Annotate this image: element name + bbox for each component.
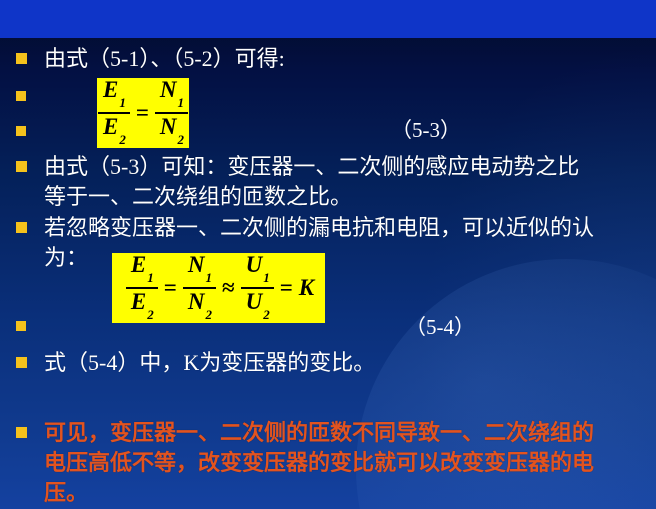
equals-sign: = — [280, 275, 293, 301]
bullet-line-4: 由式（5-3）可知：变压器一、二次侧的感应电动势之比 等于一、二次绕组的匝数之比… — [16, 152, 654, 212]
slide-canvas: 由式（5-1）、（5-2）可得: E1 E2 = N1 N2 （5-3） 由式（… — [0, 0, 656, 509]
fraction-numerator: N1 — [183, 252, 216, 289]
bullet-line-6 — [16, 312, 43, 331]
bullet-marker-icon — [16, 427, 27, 438]
fraction-numerator: U1 — [241, 252, 274, 289]
formula-5-3-expression: E1 E2 = N1 N2 — [95, 77, 191, 148]
formula-box-5-4: E1 E2 = N1 N2 ≈ U1 U2 = K — [112, 253, 325, 323]
fraction-denominator: E2 — [98, 114, 130, 149]
fraction-denominator: N2 — [183, 289, 216, 324]
bullet-line-1: 由式（5-1）、（5-2）可得: — [16, 44, 285, 74]
bullet-marker-icon — [16, 357, 27, 368]
bullet-line-7: 式（5-4）中，K为变压器的变比。 — [16, 348, 375, 378]
fraction-e1-e2: E1 E2 — [126, 252, 158, 323]
fraction-denominator: U2 — [241, 289, 274, 324]
bullet-line-8: 可见，变压器一、二次侧的匝数不同导致一、二次绕组的 电压高低不等，改变变压器的变… — [16, 418, 656, 508]
bullet-text-1: 由式（5-1）、（5-2）可得: — [44, 44, 285, 74]
fraction-n1-n2: N1 N2 — [183, 252, 216, 323]
bullet-text-8: 可见，变压器一、二次侧的匝数不同导致一、二次绕组的 电压高低不等，改变变压器的变… — [44, 418, 656, 508]
formula-box-5-3: E1 E2 = N1 N2 — [97, 78, 189, 148]
equals-sign: = — [136, 100, 149, 126]
equation-label-5-4: （5-4） — [405, 311, 475, 341]
fraction-u1-u2: U1 U2 — [241, 252, 274, 323]
equation-label-5-3: （5-3） — [391, 114, 461, 144]
bullet-marker-icon — [16, 53, 27, 64]
approx-sign: ≈ — [222, 275, 235, 301]
fraction-denominator: E2 — [126, 289, 158, 324]
bullet-line-3 — [16, 117, 43, 136]
bullet-marker-icon — [16, 222, 27, 233]
fraction-e1-e2: E1 E2 — [98, 77, 130, 148]
fraction-denominator: N2 — [155, 114, 188, 149]
bullet-marker-icon — [16, 126, 26, 136]
bullet-marker-icon — [16, 91, 26, 101]
title-banner — [0, 0, 656, 38]
bullet-text-7: 式（5-4）中，K为变压器的变比。 — [44, 348, 375, 378]
formula-5-4-expression: E1 E2 = N1 N2 ≈ U1 U2 = K — [123, 252, 314, 323]
fraction-numerator: E1 — [98, 77, 130, 114]
bullet-line-2 — [16, 82, 43, 101]
bullet-text-4: 由式（5-3）可知：变压器一、二次侧的感应电动势之比 等于一、二次绕组的匝数之比… — [44, 152, 654, 212]
bullet-marker-icon — [16, 321, 26, 331]
variable-k: K — [299, 275, 314, 301]
equals-sign: = — [164, 275, 177, 301]
bullet-marker-icon — [16, 161, 27, 172]
fraction-n1-n2: N1 N2 — [155, 77, 188, 148]
fraction-numerator: N1 — [155, 77, 188, 114]
fraction-numerator: E1 — [126, 252, 158, 289]
